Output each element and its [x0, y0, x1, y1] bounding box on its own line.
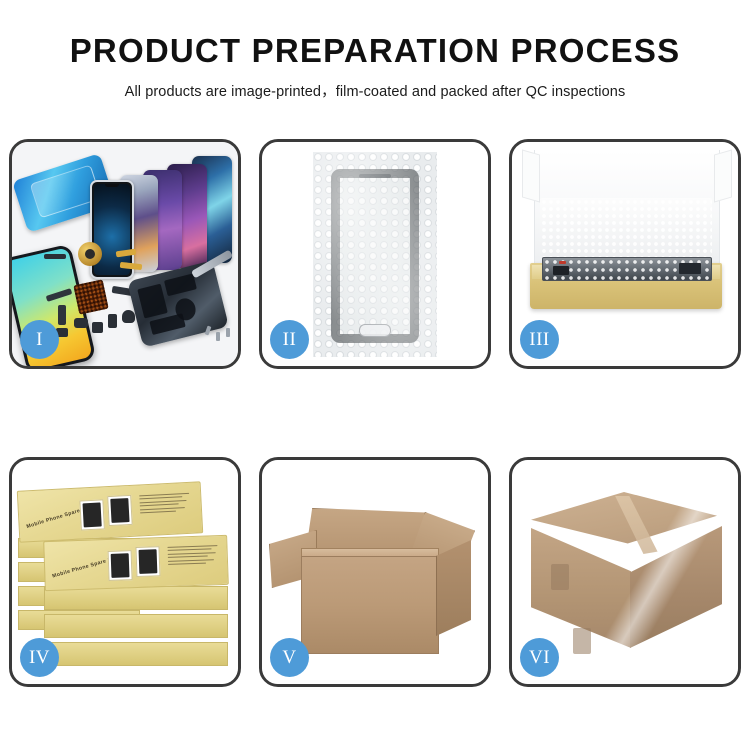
home-button-outline — [359, 324, 391, 337]
step-badge-5: V — [270, 638, 309, 677]
stacked-box-front-2 — [44, 614, 228, 636]
small-component-3 — [108, 314, 117, 328]
sealed-carton-image — [527, 486, 723, 664]
thumb-screen — [83, 502, 102, 527]
step-panel-1: I — [9, 139, 241, 369]
shell-module-2 — [164, 273, 197, 296]
step-badge-2: II — [270, 320, 309, 359]
box-spec-lines-1 — [139, 493, 192, 516]
thumb-screen — [111, 553, 130, 578]
product-preparation-infographic: PRODUCT PREPARATION PROCESS All products… — [0, 0, 750, 750]
stacked-box-printed-2: Mobile Phone Spare Parts — [43, 535, 229, 591]
carton-hand-hole-1 — [551, 564, 569, 590]
box-side — [44, 614, 228, 638]
step-panel-2: II — [259, 139, 491, 369]
kraft-box-image — [530, 263, 722, 309]
page-title: PRODUCT PREPARATION PROCESS — [0, 34, 750, 69]
page-subtitle: All products are image-printed，film-coat… — [0, 80, 750, 101]
box-thumb-2a — [108, 550, 133, 581]
speaker-part-icon — [78, 242, 102, 266]
step-badge-3: III — [520, 320, 559, 359]
mesh-grille-part — [73, 279, 109, 315]
screw-1 — [226, 328, 230, 337]
step-panel-5: V — [259, 457, 491, 687]
box-side — [44, 642, 228, 666]
bubble-wrapped-screen-image — [313, 152, 437, 357]
thumb-screen — [139, 549, 158, 574]
earpiece-part — [44, 254, 66, 259]
header: PRODUCT PREPARATION PROCESS All products… — [0, 0, 750, 101]
step-badge-4: IV — [20, 638, 59, 677]
open-carton-image — [279, 504, 471, 656]
step-panel-3: III — [509, 139, 741, 369]
small-component-2 — [92, 322, 103, 333]
box-thumb-1b — [107, 495, 133, 526]
step-panel-6: VI — [509, 457, 741, 687]
carton-right-face — [436, 540, 471, 636]
screen-outline — [331, 169, 419, 343]
stacked-box-front-3 — [44, 642, 228, 664]
thumb-screen — [110, 498, 129, 523]
shell-module-1 — [137, 284, 168, 319]
screen-marker-red — [559, 261, 566, 264]
earpiece-slot — [359, 174, 391, 178]
step-badge-6: VI — [520, 638, 559, 677]
box-spec-lines-2 — [167, 545, 220, 567]
notch-detail — [105, 184, 119, 187]
box-thumb-1a — [79, 499, 105, 530]
screen-marker-dark-1 — [553, 266, 569, 275]
foam-pad-image — [540, 198, 712, 266]
carton-front-face — [301, 556, 439, 654]
step-panel-4: Mobile Phone Spare Parts Mobile Phone Sp… — [9, 457, 241, 687]
flex-cable-part-4 — [58, 305, 66, 325]
small-component-6 — [122, 310, 135, 323]
packed-screen-in-box — [542, 257, 712, 281]
stacked-box-printed-1: Mobile Phone Spare Parts — [17, 481, 203, 543]
box-thumb-2b — [135, 546, 160, 577]
screen-marker-dark-2 — [679, 263, 701, 274]
small-component-1 — [74, 318, 88, 328]
screw-2 — [216, 332, 220, 341]
shell-module-4 — [149, 313, 185, 335]
step-badge-1: I — [20, 320, 59, 359]
steps-grid: I II — [9, 139, 741, 687]
carton-hand-hole-2 — [573, 628, 591, 654]
